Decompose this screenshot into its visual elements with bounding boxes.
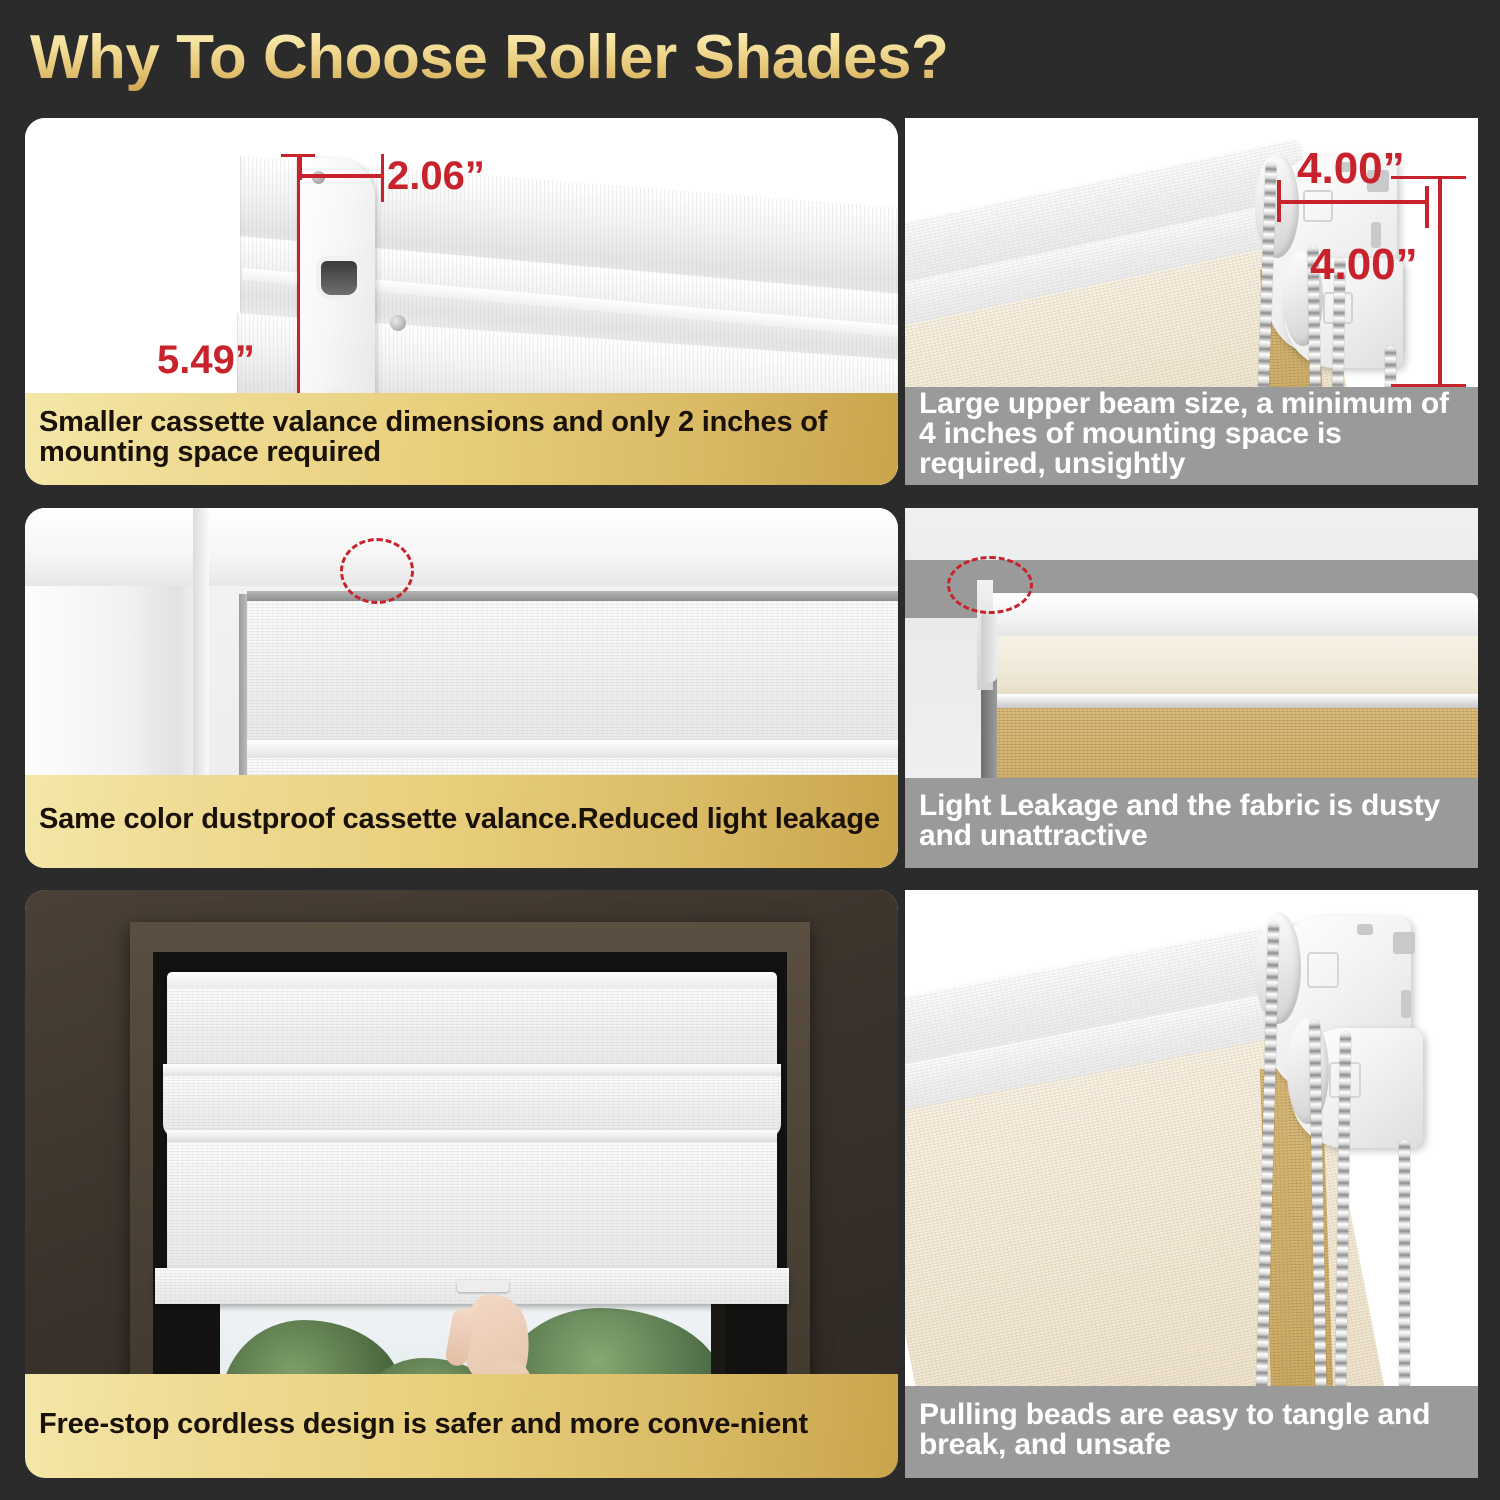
panel-pulling-beads: Pulling beads are easy to tangle and bre… xyxy=(905,890,1478,1478)
window-frame-top xyxy=(25,508,898,586)
shade-pull-tab[interactable] xyxy=(457,1280,509,1292)
panel-dustproof-valance: smaller gap Same color dustproof cassett… xyxy=(25,508,898,868)
beam-cream xyxy=(987,636,1478,696)
panel-light-leakage: Large gap Light Leakage and the fabric i… xyxy=(905,508,1478,868)
dim-width-line xyxy=(299,174,384,178)
panel-5-caption: Free-stop cordless design is safer and m… xyxy=(25,1374,898,1478)
panel-smaller-cassette: 2.06” 5.49” Smaller cassette valance dim… xyxy=(25,118,898,485)
beam-bottom-lip xyxy=(987,694,1478,708)
dim-width-label: 2.06” xyxy=(387,154,485,199)
panel-4-caption: Light Leakage and the fabric is dusty an… xyxy=(905,778,1478,868)
dim-4-top-tick-left xyxy=(1277,180,1281,222)
shade-valance-bottom-rail xyxy=(167,1130,777,1142)
bead-bracket-slot-a xyxy=(1393,932,1415,954)
cassette-divider xyxy=(247,740,898,758)
dim-4-top-label: 4.00” xyxy=(1297,144,1405,194)
dim-4-side-tick-top xyxy=(1391,176,1466,179)
panel-6-caption: Pulling beads are easy to tangle and bre… xyxy=(905,1386,1478,1478)
highlight-circle-gap xyxy=(340,538,414,604)
shade-cassette-face xyxy=(167,988,777,1070)
dim-width-tick-right xyxy=(381,154,384,202)
dim-4-top-line xyxy=(1277,200,1429,204)
cassette-top-lip xyxy=(247,591,898,601)
panel-6-caption-text: Pulling beads are easy to tangle and bre… xyxy=(919,1400,1464,1460)
dim-height-label: 5.49” xyxy=(157,338,255,383)
endcap-slot-upper xyxy=(321,261,357,295)
dim-height-tick-top xyxy=(281,154,315,157)
shade-valance-strip xyxy=(163,1076,781,1138)
dim-4-side-label: 4.00” xyxy=(1310,240,1418,290)
bracket-arrow-icon-top xyxy=(1303,190,1333,222)
bead-bracket-slot-c xyxy=(1357,924,1373,935)
panel-4-caption-text: Light Leakage and the fabric is dusty an… xyxy=(919,791,1464,851)
bracket-pin xyxy=(981,612,997,682)
panel-1-caption-text: Smaller cassette valance dimensions and … xyxy=(39,407,884,467)
bead-bracket-slot-b xyxy=(1401,990,1411,1018)
page-title: Why To Choose Roller Shades? xyxy=(30,22,948,93)
panel-3-caption: Same color dustproof cassette valance.Re… xyxy=(25,775,898,868)
highlight-circle-large-gap xyxy=(947,556,1033,614)
panel-3-caption-text: Same color dustproof cassette valance.Re… xyxy=(39,804,880,834)
panel-5-caption-text: Free-stop cordless design is safer and m… xyxy=(39,1409,808,1439)
endcap-screw-mid xyxy=(390,315,406,331)
panel-large-upper-beam: 4.00” 4.00” Large upper beam size, a min… xyxy=(905,118,1478,485)
bead-end-disc-lower xyxy=(1287,1018,1329,1124)
dim-4-side-line xyxy=(1438,176,1442,386)
panel-cordless-design: Free-stop cordless design is safer and m… xyxy=(25,890,898,1478)
bead-bracket-icon-top xyxy=(1307,952,1339,988)
panel-1-caption: Smaller cassette valance dimensions and … xyxy=(25,393,898,485)
shade-main-fabric xyxy=(167,1142,777,1272)
shade-fabric-upper xyxy=(247,601,898,746)
dim-4-top-tick-right xyxy=(1425,186,1429,228)
title-bar: Why To Choose Roller Shades? xyxy=(0,0,1500,110)
panel-2-caption: Large upper beam size, a minimum of 4 in… xyxy=(905,387,1478,485)
panel-2-caption-text: Large upper beam size, a minimum of 4 in… xyxy=(919,389,1464,479)
